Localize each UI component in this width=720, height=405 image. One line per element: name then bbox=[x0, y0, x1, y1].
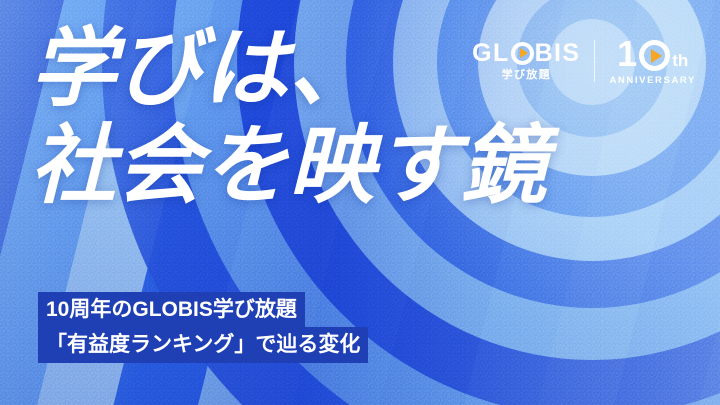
anniversary-ordinal-suffix: th bbox=[672, 52, 688, 72]
subtitle-row-2: 「有益度ランキング」で辿る変化 bbox=[38, 327, 368, 362]
subtitle-line-2: 「有益度ランキング」で辿る変化 bbox=[38, 327, 368, 362]
subtitle: 10周年のGLOBIS学び放題 「有益度ランキング」で辿る変化 bbox=[38, 292, 368, 363]
globis-logo: GL BIS 学び放題 bbox=[472, 41, 580, 81]
globis-wordmark-part2: BIS bbox=[535, 41, 581, 66]
anniversary-digit-one: 1 bbox=[617, 36, 637, 72]
globis-wordmark: GL BIS bbox=[472, 41, 580, 66]
promo-banner: 学びは、 社会を映す鏡 10周年のGLOBIS学び放題 「有益度ランキング」で辿… bbox=[0, 0, 720, 405]
subtitle-line-1: 10周年のGLOBIS学び放題 bbox=[38, 292, 305, 327]
play-button-icon bbox=[511, 42, 534, 65]
anniversary-badge: 1 th ANNIVERSARY bbox=[609, 36, 696, 86]
brand-divider bbox=[594, 40, 595, 82]
globis-wordmark-part1: GL bbox=[472, 41, 509, 66]
anniversary-play-icon bbox=[639, 40, 670, 71]
anniversary-number: 1 th bbox=[617, 36, 688, 72]
globis-tagline: 学び放題 bbox=[502, 70, 551, 81]
brand-lockup: GL BIS 学び放題 1 th ANNIVERSARY bbox=[472, 36, 696, 86]
anniversary-label: ANNIVERSARY bbox=[609, 76, 696, 86]
subtitle-row-1: 10周年のGLOBIS学び放題 bbox=[38, 292, 368, 327]
